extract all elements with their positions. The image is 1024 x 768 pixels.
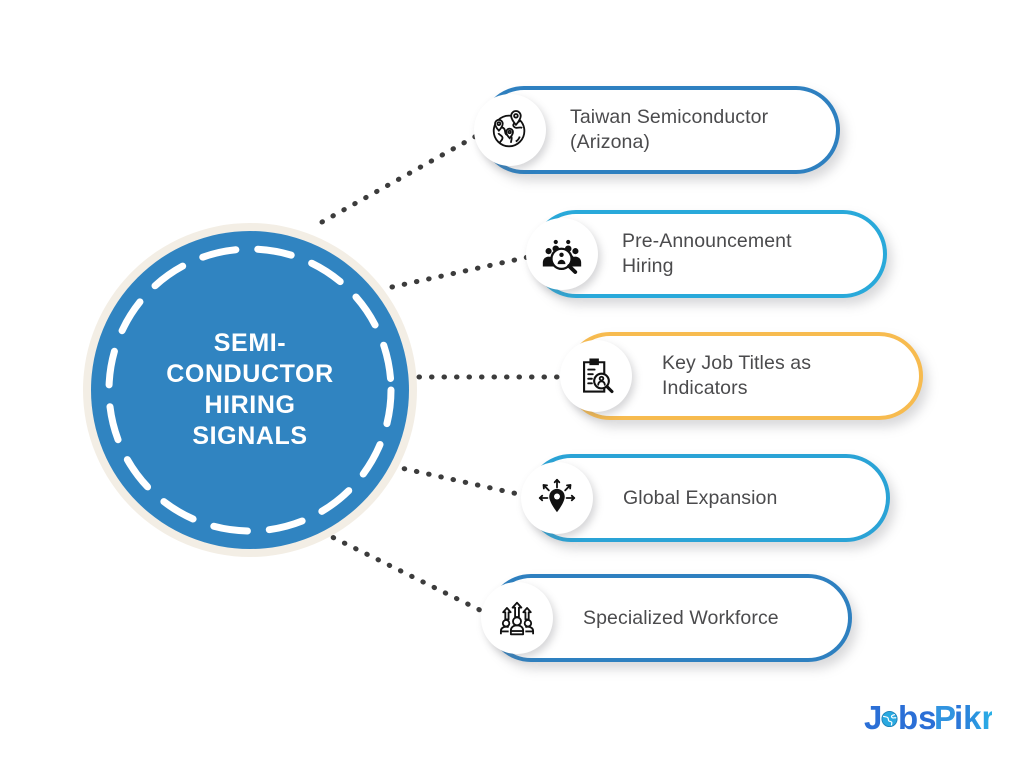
infographic-canvas: SEMI- CONDUCTOR HIRING SIGNALS	[0, 0, 1024, 768]
logo-text-p: P	[934, 699, 956, 736]
node-pill[interactable]: Global Expansion	[527, 454, 890, 542]
globe-icon	[882, 711, 897, 726]
node-label: Key Job Titles as Indicators	[662, 351, 811, 401]
node-taiwan-semiconductor-arizona[interactable]: Taiwan Semiconductor (Arizona)	[480, 86, 840, 174]
node-pill[interactable]: Key Job Titles as Indicators	[566, 332, 923, 420]
people-search-magnifier-icon	[526, 218, 598, 290]
location-pin-expand-arrows-icon	[521, 462, 593, 534]
node-specialized-workforce[interactable]: Specialized Workforce	[487, 574, 852, 662]
node-pill[interactable]: Taiwan Semiconductor (Arizona)	[480, 86, 840, 174]
central-hub: SEMI- CONDUCTOR HIRING SIGNALS	[83, 223, 417, 557]
clipboard-candidate-search-icon	[560, 340, 632, 412]
node-label: Specialized Workforce	[583, 606, 779, 631]
node-pre-announcement-hiring[interactable]: Pre-Announcement Hiring	[532, 210, 887, 298]
logo-text-bs: bs	[898, 699, 937, 736]
hub-title: SEMI- CONDUCTOR HIRING SIGNALS	[83, 223, 417, 557]
connector-line-1	[322, 130, 487, 222]
node-label: Taiwan Semiconductor (Arizona)	[570, 105, 768, 155]
node-global-expansion[interactable]: Global Expansion	[527, 454, 890, 542]
logo-text-ikr: ikr	[954, 699, 992, 736]
node-label: Pre-Announcement Hiring	[622, 229, 792, 279]
node-key-job-titles-as-indicators[interactable]: Key Job Titles as Indicators	[566, 332, 923, 420]
jobspikr-wordmark: J bs P ikr	[864, 699, 992, 739]
globe-location-pins-icon	[474, 94, 546, 166]
node-label: Global Expansion	[623, 486, 777, 511]
node-pill[interactable]: Pre-Announcement Hiring	[532, 210, 887, 298]
node-pill[interactable]: Specialized Workforce	[487, 574, 852, 662]
jobspikr-logo: J bs P ikr	[864, 699, 992, 739]
logo-text-j: J	[864, 699, 882, 736]
people-growth-arrows-icon	[481, 582, 553, 654]
